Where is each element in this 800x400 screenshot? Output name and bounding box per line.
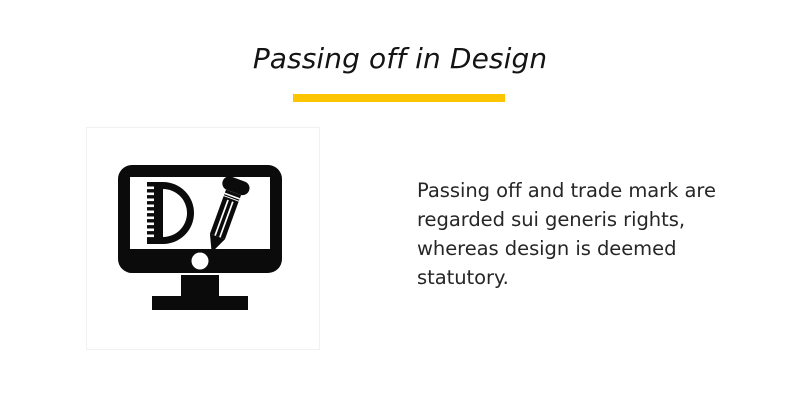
body-paragraph: Passing off and trade mark are regarded … <box>417 176 727 292</box>
title-block: Passing off in Design <box>0 42 800 76</box>
slide-canvas: Passing off in Design <box>0 0 800 400</box>
body-text-block: Passing off and trade mark are regarded … <box>417 176 727 292</box>
monitor-base <box>152 296 248 310</box>
power-button <box>192 253 209 270</box>
design-monitor-icon-svg <box>118 165 282 320</box>
design-monitor-icon <box>118 165 282 320</box>
page-title: Passing off in Design <box>0 42 800 76</box>
title-underline <box>293 94 505 102</box>
monitor-stand <box>181 275 219 297</box>
